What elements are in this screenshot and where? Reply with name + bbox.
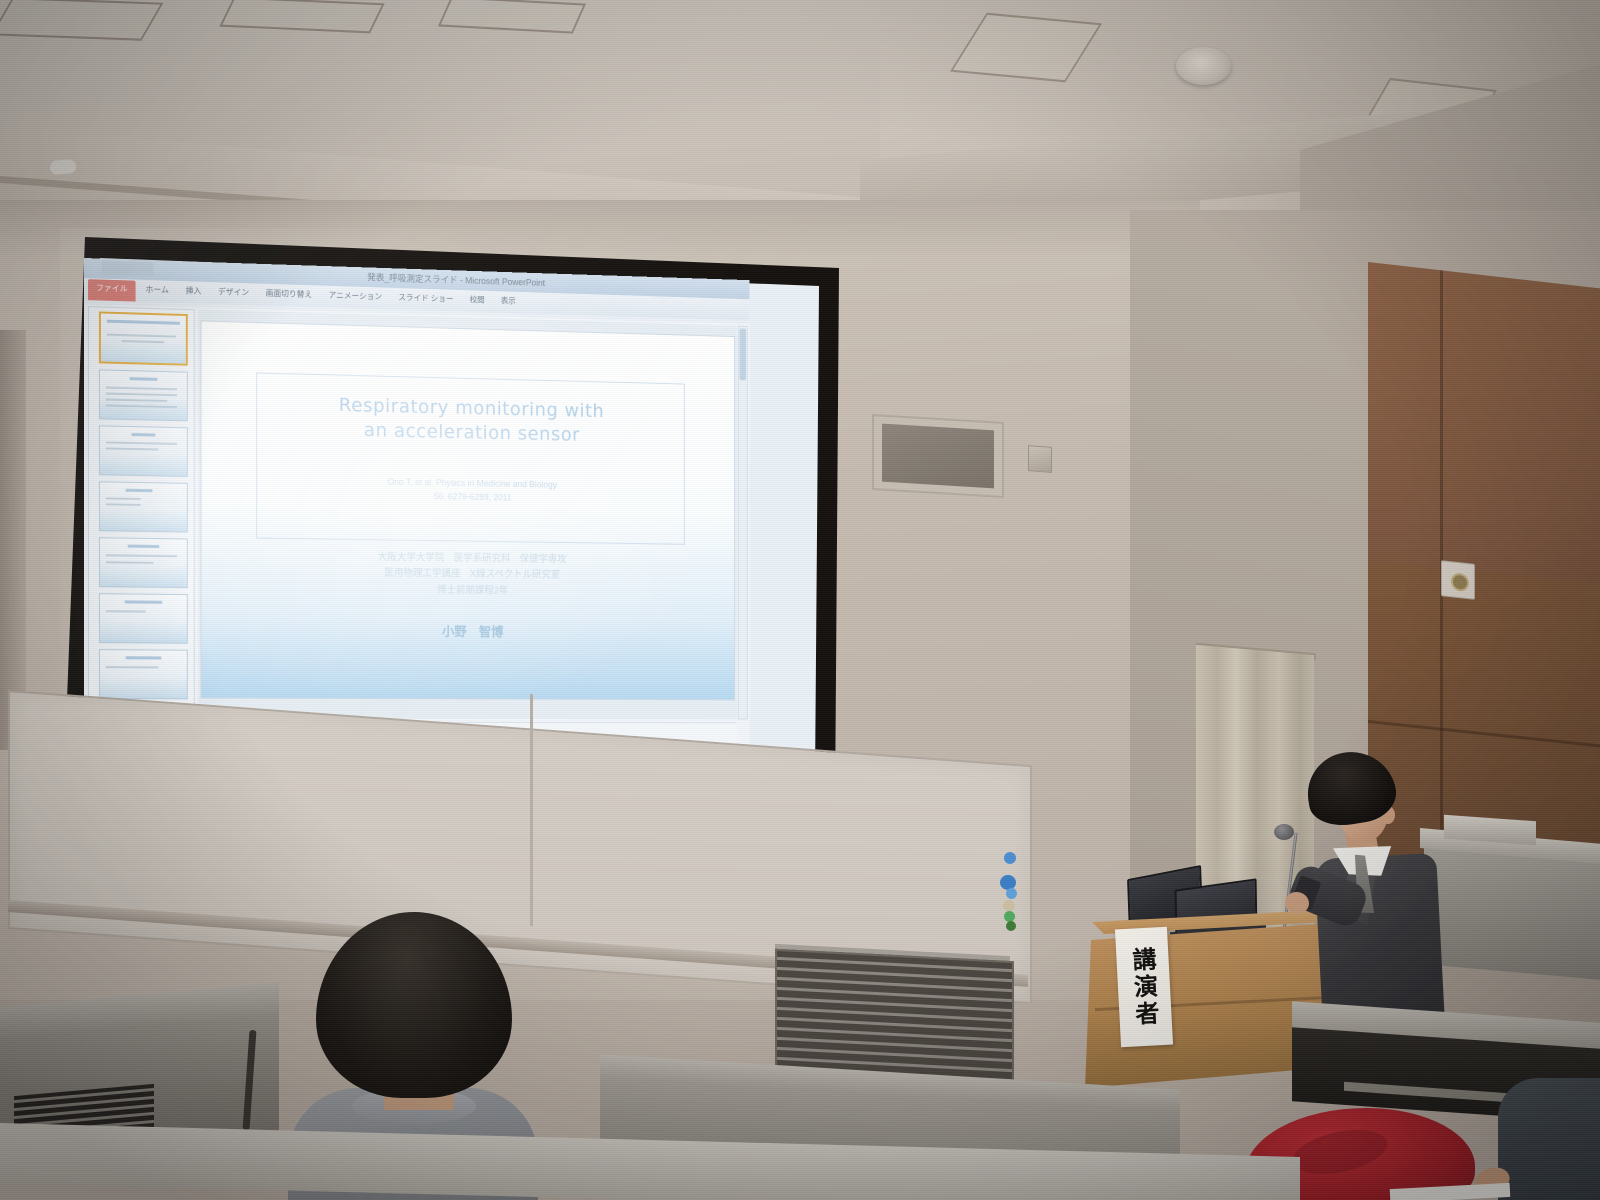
whiteboard-seam xyxy=(530,694,533,926)
slide-thumbnail-pane[interactable] xyxy=(88,306,195,718)
slide-thumbnail[interactable] xyxy=(99,311,188,365)
slide-thumbnail[interactable] xyxy=(99,537,188,588)
tab-transitions[interactable]: 画面切り替え xyxy=(266,288,312,300)
thumbnail-scrollbar[interactable] xyxy=(738,326,748,720)
slide-thumbnail[interactable] xyxy=(99,593,188,644)
whiteboard-magnet[interactable] xyxy=(1004,852,1016,864)
recessed-downlight-icon xyxy=(1176,47,1231,85)
slide-thumbnail[interactable] xyxy=(99,425,188,477)
slide-thumbnail[interactable] xyxy=(99,369,188,421)
slide-thumbnail[interactable] xyxy=(99,481,188,532)
podium-sign: 講演者 xyxy=(1115,927,1173,1048)
lecture-hall-photo: 発表_呼吸測定スライド - Microsoft PowerPoint ファイル … xyxy=(0,0,1600,1200)
wall-outlet-plate[interactable] xyxy=(1441,560,1475,600)
laser-pointer-on-podium xyxy=(50,159,77,175)
audience-member-dark-coat xyxy=(1498,1078,1600,1200)
wall-speaker-panel xyxy=(872,414,1004,498)
slide-affiliation: 大阪大学大学院 医学系研究科 保健学専攻 医用物理工学講座 X線スペクトル研究室… xyxy=(245,548,693,602)
slide-thumbnail[interactable] xyxy=(99,649,188,699)
slide-editing-area[interactable]: Respiratory monitoring with an accelerat… xyxy=(199,309,737,719)
ceiling-access-panel xyxy=(0,0,163,41)
audience-hair xyxy=(316,912,512,1098)
podium-sign-text: 講演者 xyxy=(1124,946,1163,1029)
slide-author: 小野 智博 xyxy=(245,619,693,641)
outlet-socket-icon xyxy=(1451,572,1469,592)
window-title: 発表_呼吸測定スライド - Microsoft PowerPoint xyxy=(367,270,545,288)
quick-access-toolbar[interactable] xyxy=(102,261,153,277)
tab-animations[interactable]: アニメーション xyxy=(329,290,382,302)
left-wall-edge xyxy=(0,330,26,750)
tab-slideshow[interactable]: スライド ショー xyxy=(398,292,453,304)
tab-design[interactable]: デザイン xyxy=(218,286,249,298)
tab-review[interactable]: 校閲 xyxy=(470,294,485,305)
tab-insert[interactable]: 挿入 xyxy=(186,285,202,296)
wall-sensor-icon xyxy=(1028,445,1052,473)
slide-title: Respiratory monitoring with an accelerat… xyxy=(256,391,682,450)
whiteboard-magnet[interactable] xyxy=(1006,888,1017,899)
tab-view[interactable]: 表示 xyxy=(501,295,516,306)
tab-home[interactable]: ホーム xyxy=(145,284,168,296)
presenter xyxy=(1285,752,1465,1042)
current-slide[interactable]: Respiratory monitoring with an accelerat… xyxy=(200,321,735,701)
whiteboard-magnet[interactable] xyxy=(1003,900,1015,911)
whiteboard-magnet[interactable] xyxy=(1006,921,1016,931)
